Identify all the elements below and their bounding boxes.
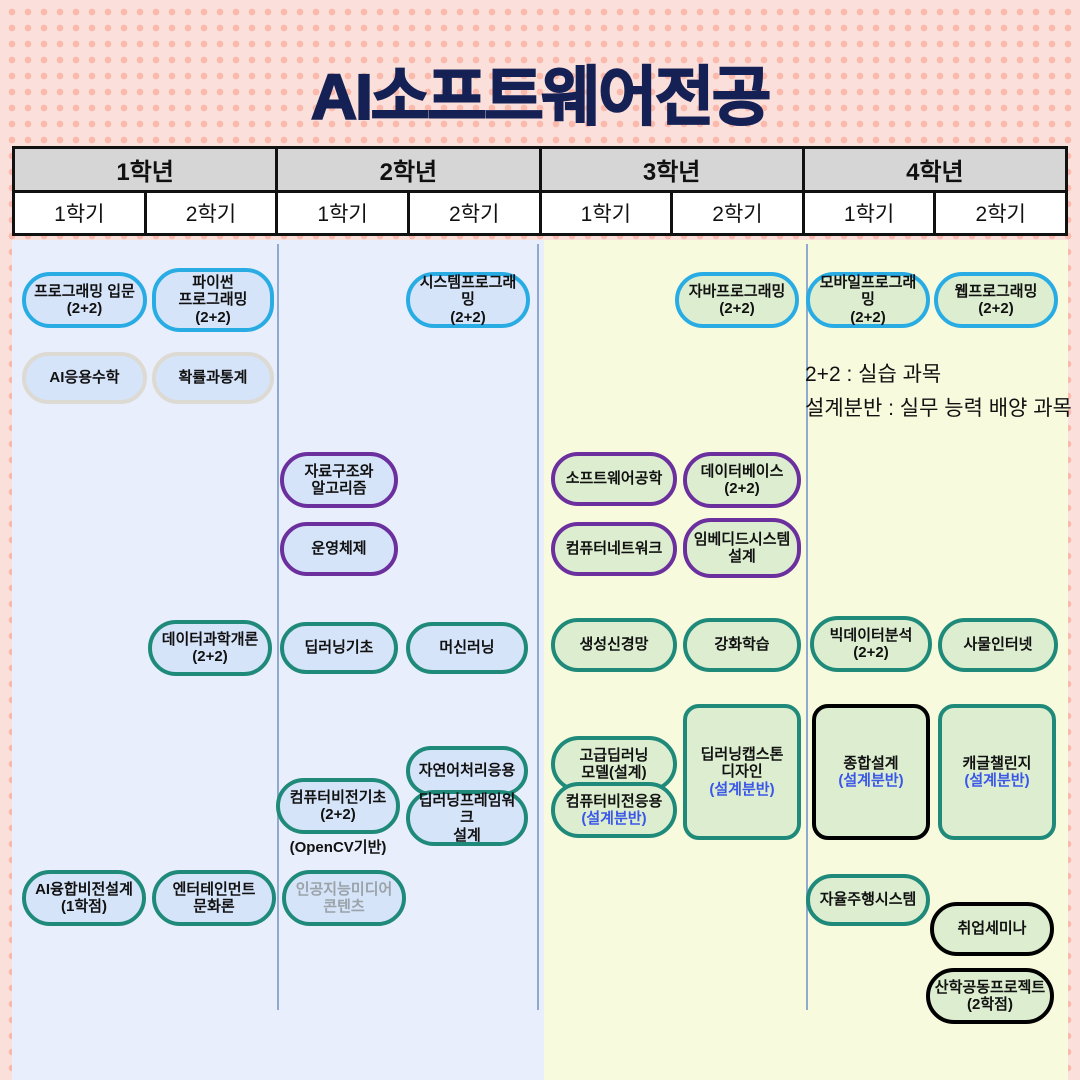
course-box[interactable]: 자연어처리응용 [406, 746, 528, 796]
course-text: 디자인 [721, 763, 762, 780]
course-box[interactable]: 웹프로그래밍(2+2) [934, 272, 1058, 328]
course-text: (2+2) [192, 648, 227, 665]
course-note: (OpenCV기반) [276, 836, 400, 857]
course-box[interactable]: 엔터테인먼트문화론 [152, 870, 276, 926]
course-box[interactable]: 딥러닝기초 [280, 622, 398, 674]
semester-cell-4: 2학기 [407, 193, 542, 236]
course-text: 문화론 [193, 898, 234, 915]
course-text: 모델(설계) [581, 764, 646, 781]
course-text: 콘텐츠 [323, 898, 364, 915]
course-text: (설계분반) [709, 781, 774, 798]
course-box[interactable]: 데이터베이스(2+2) [683, 452, 801, 508]
course-box[interactable]: 데이터과학개론(2+2) [148, 620, 272, 676]
semester-cell-5: 1학기 [539, 193, 674, 236]
course-text: 프로그래밍 [178, 291, 247, 308]
year-cell-3: 3학년 [539, 146, 805, 193]
page-title: AI소프트웨어전공 [0, 46, 1080, 138]
course-text: 운영체제 [311, 540, 366, 557]
course-text: 설계 [728, 548, 756, 565]
course-text: 컴퓨터네트워크 [566, 540, 663, 557]
course-text: 시스템프로그래밍 [414, 274, 522, 308]
semester-cell-2: 2학기 [144, 193, 279, 236]
course-text: 데이터과학개론 [162, 631, 259, 648]
course-text: 사물인터넷 [963, 636, 1032, 653]
course-box[interactable]: AI응용수학 [22, 352, 147, 404]
course-box[interactable]: 캐글챌린지(설계분반) [938, 704, 1056, 840]
course-text: (2+2) [195, 309, 230, 326]
course-text: 산학공동프로젝트 [935, 979, 1045, 996]
semester-row: 1학기2학기1학기2학기1학기2학기1학기2학기 [12, 193, 1068, 236]
course-text: 빅데이터분석 [830, 627, 913, 644]
curriculum-page: AI소프트웨어전공 1학년2학년3학년4학년 1학기2학기1학기2학기1학기2학… [0, 0, 1080, 1080]
course-text: 웹프로그래밍 [955, 283, 1038, 300]
course-box[interactable]: 시스템프로그래밍(2+2) [406, 272, 530, 328]
course-box[interactable]: 모바일프로그래밍(2+2) [806, 272, 930, 328]
course-text: 종합설계 [843, 755, 898, 772]
course-text: 취업세미나 [957, 920, 1026, 937]
course-box[interactable]: 사물인터넷 [938, 618, 1058, 672]
year-cell-1: 1학년 [12, 146, 278, 193]
course-box[interactable]: 종합설계(설계분반) [812, 704, 930, 840]
course-text: (1학점) [61, 898, 107, 915]
course-text: (2학점) [967, 996, 1013, 1013]
year-cell-4: 4학년 [802, 146, 1068, 193]
course-box[interactable]: 생성신경망 [551, 618, 677, 672]
legend-design: 설계분반 : 실무 능력 배양 과목 [805, 392, 1072, 422]
course-text: (설계분반) [581, 810, 646, 827]
course-box[interactable]: 산학공동프로젝트(2학점) [926, 968, 1054, 1024]
course-text: 확률과통계 [178, 369, 247, 386]
course-box[interactable]: 프로그래밍 입문(2+2) [22, 272, 147, 328]
course-box[interactable]: 강화학습 [683, 618, 801, 672]
course-text: (설계분반) [964, 772, 1029, 789]
course-box[interactable]: 임베디드시스템설계 [683, 518, 801, 578]
course-box[interactable]: AI융합비전설계(1학점) [22, 870, 146, 926]
legend-practice: 2+2 : 실습 과목 [805, 358, 941, 388]
course-box[interactable]: 확률과통계 [152, 352, 274, 404]
course-text: 강화학습 [714, 636, 769, 653]
course-text: (2+2) [978, 300, 1013, 317]
course-text: 자바프로그래밍 [689, 283, 786, 300]
course-text: 딥러닝프레임워크 [414, 792, 520, 826]
course-box[interactable]: 컴퓨터네트워크 [551, 522, 677, 576]
course-text: 자율주행시스템 [820, 891, 917, 908]
course-text: 딥러닝기초 [304, 639, 373, 656]
course-box[interactable]: 머신러닝 [406, 622, 528, 674]
divider-1 [277, 244, 279, 1010]
year-semester-header: 1학년2학년3학년4학년 1학기2학기1학기2학기1학기2학기1학기2학기 [12, 146, 1068, 236]
course-text: 컴퓨터비전기초 [290, 789, 387, 806]
course-box[interactable]: 딥러닝캡스톤디자인(설계분반) [683, 704, 801, 840]
course-box[interactable]: 컴퓨터비전기초(2+2) [276, 778, 400, 834]
course-box[interactable]: 빅데이터분석(2+2) [810, 616, 932, 672]
course-text: 캐글챌린지 [962, 755, 1031, 772]
course-text: 데이터베이스 [701, 463, 784, 480]
course-text: 자료구조와 [304, 463, 373, 480]
course-box[interactable]: 컴퓨터비전응용(설계분반) [551, 782, 677, 838]
course-box[interactable]: 자바프로그래밍(2+2) [675, 272, 799, 328]
course-text: 알고리즘 [311, 480, 366, 497]
course-text: 엔터테인먼트 [173, 881, 256, 898]
course-text: 생성신경망 [579, 636, 648, 653]
semester-cell-3: 1학기 [275, 193, 410, 236]
course-text: 프로그래밍 입문 [34, 283, 135, 300]
course-text: 모바일프로그래밍 [814, 274, 922, 308]
course-text: (설계분반) [838, 772, 903, 789]
course-box[interactable]: 자료구조와알고리즘 [280, 452, 398, 508]
divider-2 [537, 244, 539, 1010]
semester-cell-1: 1학기 [12, 193, 147, 236]
course-text: 컴퓨터비전응용 [566, 793, 663, 810]
course-text: 자연어처리응용 [419, 762, 516, 779]
year-cell-2: 2학년 [275, 146, 541, 193]
course-box[interactable]: 취업세미나 [930, 902, 1054, 956]
course-text: (2+2) [719, 300, 754, 317]
course-text: (2+2) [67, 300, 102, 317]
course-text: 딥러닝캡스톤 [701, 746, 784, 763]
course-box[interactable]: 운영체제 [280, 522, 398, 576]
course-text: 설계 [453, 827, 481, 844]
semester-cell-8: 2학기 [933, 193, 1068, 236]
course-text: 인공지능미디어 [296, 881, 393, 898]
year-row: 1학년2학년3학년4학년 [12, 146, 1068, 193]
semester-cell-6: 2학기 [670, 193, 805, 236]
course-text: (2+2) [850, 309, 885, 326]
course-text: 고급딥러닝 [579, 747, 648, 764]
course-text: AI응용수학 [49, 369, 119, 386]
course-text: (2+2) [724, 480, 759, 497]
course-text: AI융합비전설계 [35, 881, 133, 898]
course-box[interactable]: 인공지능미디어콘텐츠 [282, 870, 406, 926]
course-text: 임베디드시스템 [694, 531, 791, 548]
semester-cell-7: 1학기 [802, 193, 937, 236]
course-text: 파이썬 [192, 274, 233, 291]
course-text: (2+2) [450, 309, 485, 326]
course-box[interactable]: 자율주행시스템 [806, 874, 930, 926]
course-box[interactable]: 파이썬프로그래밍(2+2) [152, 268, 274, 332]
course-text: (2+2) [320, 806, 355, 823]
course-box[interactable]: 딥러닝프레임워크설계 [406, 790, 528, 846]
course-text: 소프트웨어공학 [566, 470, 663, 487]
course-text: (2+2) [853, 644, 888, 661]
course-box[interactable]: 소프트웨어공학 [551, 452, 677, 506]
course-text: 머신러닝 [439, 639, 494, 656]
